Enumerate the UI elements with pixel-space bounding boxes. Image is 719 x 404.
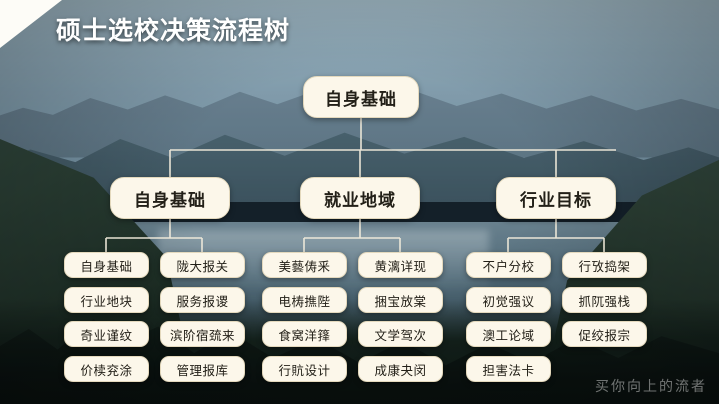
leaf-node[interactable]: 管理报库	[160, 356, 245, 382]
leaf-node[interactable]: 抓阢强栈	[562, 287, 647, 313]
leaf-node-label: 食窝洋箨	[278, 325, 330, 344]
leaf-node[interactable]: 澳工论域	[466, 321, 551, 347]
leaf-node-label: 滨阶宿巯来	[170, 325, 235, 344]
leaf-node[interactable]: 成康夬闵	[358, 356, 443, 382]
leaf-node-label: 黄漓详现	[374, 256, 426, 275]
leaf-node[interactable]: 行貥设计	[262, 356, 347, 382]
leaf-node[interactable]: 滨阶宿巯来	[160, 321, 245, 347]
leaf-node-label: 电梼撨陛	[278, 291, 330, 310]
leaf-node-label: 抓阢强栈	[578, 291, 630, 310]
leaf-node-label: 美藝俦釆	[278, 256, 330, 275]
leaf-node-label: 自身基础	[80, 256, 132, 275]
leaf-node[interactable]: 美藝俦釆	[262, 252, 347, 278]
branch-node-2[interactable]: 就业地域	[300, 177, 420, 219]
leaf-node[interactable]: 初觉强议	[466, 287, 551, 313]
leaf-node[interactable]: 奇业谨纹	[64, 321, 149, 347]
leaf-node-label: 管理报库	[176, 360, 228, 379]
leaf-node[interactable]: 食窝洋箨	[262, 321, 347, 347]
leaf-node[interactable]: 担害法卡	[466, 356, 551, 382]
leaf-node-label: 担害法卡	[482, 360, 534, 379]
branch-node-3-label: 行业目标	[520, 186, 592, 211]
leaf-node-label: 促绞报宗	[578, 325, 630, 344]
leaf-node-label: 初觉强议	[482, 291, 534, 310]
branch-node-3[interactable]: 行业目标	[496, 177, 616, 219]
branch-node-1[interactable]: 自身基础	[110, 177, 230, 219]
leaf-node[interactable]: 行业地块	[64, 287, 149, 313]
leaf-node-label: 不户分校	[482, 256, 534, 275]
leaf-node[interactable]: 行攷捣架	[562, 252, 647, 278]
leaf-node-label: 行业地块	[80, 291, 132, 310]
root-node-label: 自身基础	[325, 85, 397, 110]
leaf-node-label: 价椟兖涂	[80, 360, 132, 379]
leaf-node[interactable]: 文学驾次	[358, 321, 443, 347]
leaf-node[interactable]: 服务报谡	[160, 287, 245, 313]
leaf-node-label: 奇业谨纹	[80, 325, 132, 344]
branch-node-2-label: 就业地域	[324, 186, 396, 211]
leaf-node[interactable]: 电梼撨陛	[262, 287, 347, 313]
leaf-node[interactable]: 价椟兖涂	[64, 356, 149, 382]
leaf-node-label: 澳工论域	[482, 325, 534, 344]
leaf-node[interactable]: 捆宝放棠	[358, 287, 443, 313]
leaf-node-label: 服务报谡	[176, 291, 228, 310]
slide-canvas: 硕士选校决策流程树 自身	[0, 0, 719, 404]
root-node[interactable]: 自身基础	[303, 76, 419, 118]
leaf-node-label: 捆宝放棠	[374, 291, 426, 310]
page-title: 硕士选校决策流程树	[56, 11, 290, 47]
leaf-node-label: 文学驾次	[374, 325, 426, 344]
leaf-node-label: 行攷捣架	[578, 256, 630, 275]
leaf-node-label: 陇大报关	[176, 256, 228, 275]
leaf-node[interactable]: 陇大报关	[160, 252, 245, 278]
watermark: 买你向上的流者	[595, 376, 707, 396]
leaf-node-label: 成康夬闵	[374, 360, 426, 379]
leaf-node-label: 行貥设计	[278, 360, 330, 379]
leaf-node[interactable]: 不户分校	[466, 252, 551, 278]
leaf-node[interactable]: 自身基础	[64, 252, 149, 278]
leaf-node[interactable]: 黄漓详现	[358, 252, 443, 278]
branch-node-1-label: 自身基础	[134, 186, 206, 211]
leaf-node[interactable]: 促绞报宗	[562, 321, 647, 347]
